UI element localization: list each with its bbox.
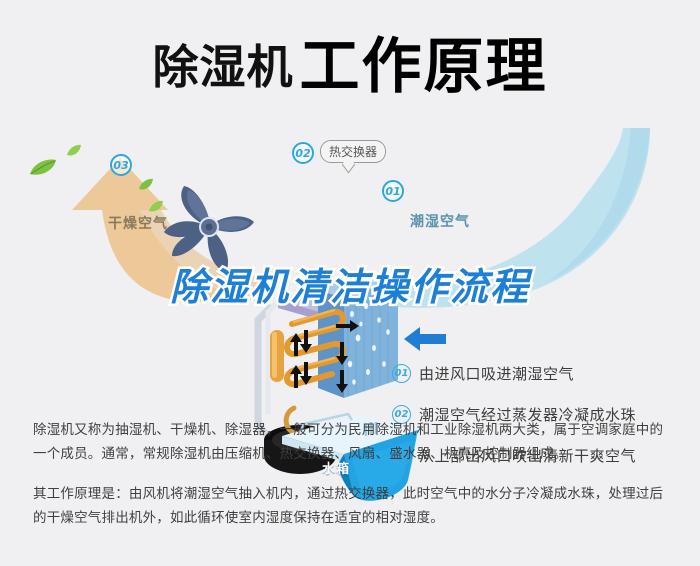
title-part-2: 工作原理 [300,37,548,97]
humid-air-label: 潮湿空气 [410,211,470,231]
leaf-icon [66,144,82,158]
page-title: 除湿机 工作原理 [0,26,700,108]
list-item: 01 由进风口吸进潮湿空气 [392,363,692,384]
page-root: 除湿机 工作原理 [0,0,700,566]
step-text: 由进风口吸进潮湿空气 [419,363,574,384]
paragraph-definition: 除湿机又称为抽湿机、干燥机、除湿器，一般可分为民用除湿机和工业除湿机两大类，属于… [33,418,673,466]
title-part-1: 除湿机 [153,44,294,90]
leaf-icon [28,158,58,178]
paragraph-principle: 其工作原理是：由风机将潮湿空气抽入机内，通过热交换器，此时空气中的水分子冷凝成水… [33,482,673,530]
watermark-overlay-text: 除湿机清洁操作流程 [0,268,700,306]
description-block: 除湿机又称为抽湿机、干燥机、除湿器，一般可分为民用除湿机和工业除湿机两大类，属于… [33,418,673,530]
diagram-badge-03: 03 [110,154,132,176]
step-number: 01 [392,364,411,383]
heat-exchanger-callout: 热交换器 [320,140,386,163]
dry-air-label: 干燥空气 [108,213,168,233]
dehumidifier-diagram: 干燥空气 潮湿空气 水箱 03 02 01 热交换器 01 由进风口吸进潮湿空气… [0,118,700,403]
diagram-badge-02: 02 [292,142,314,164]
diagram-badge-01: 01 [382,180,404,202]
